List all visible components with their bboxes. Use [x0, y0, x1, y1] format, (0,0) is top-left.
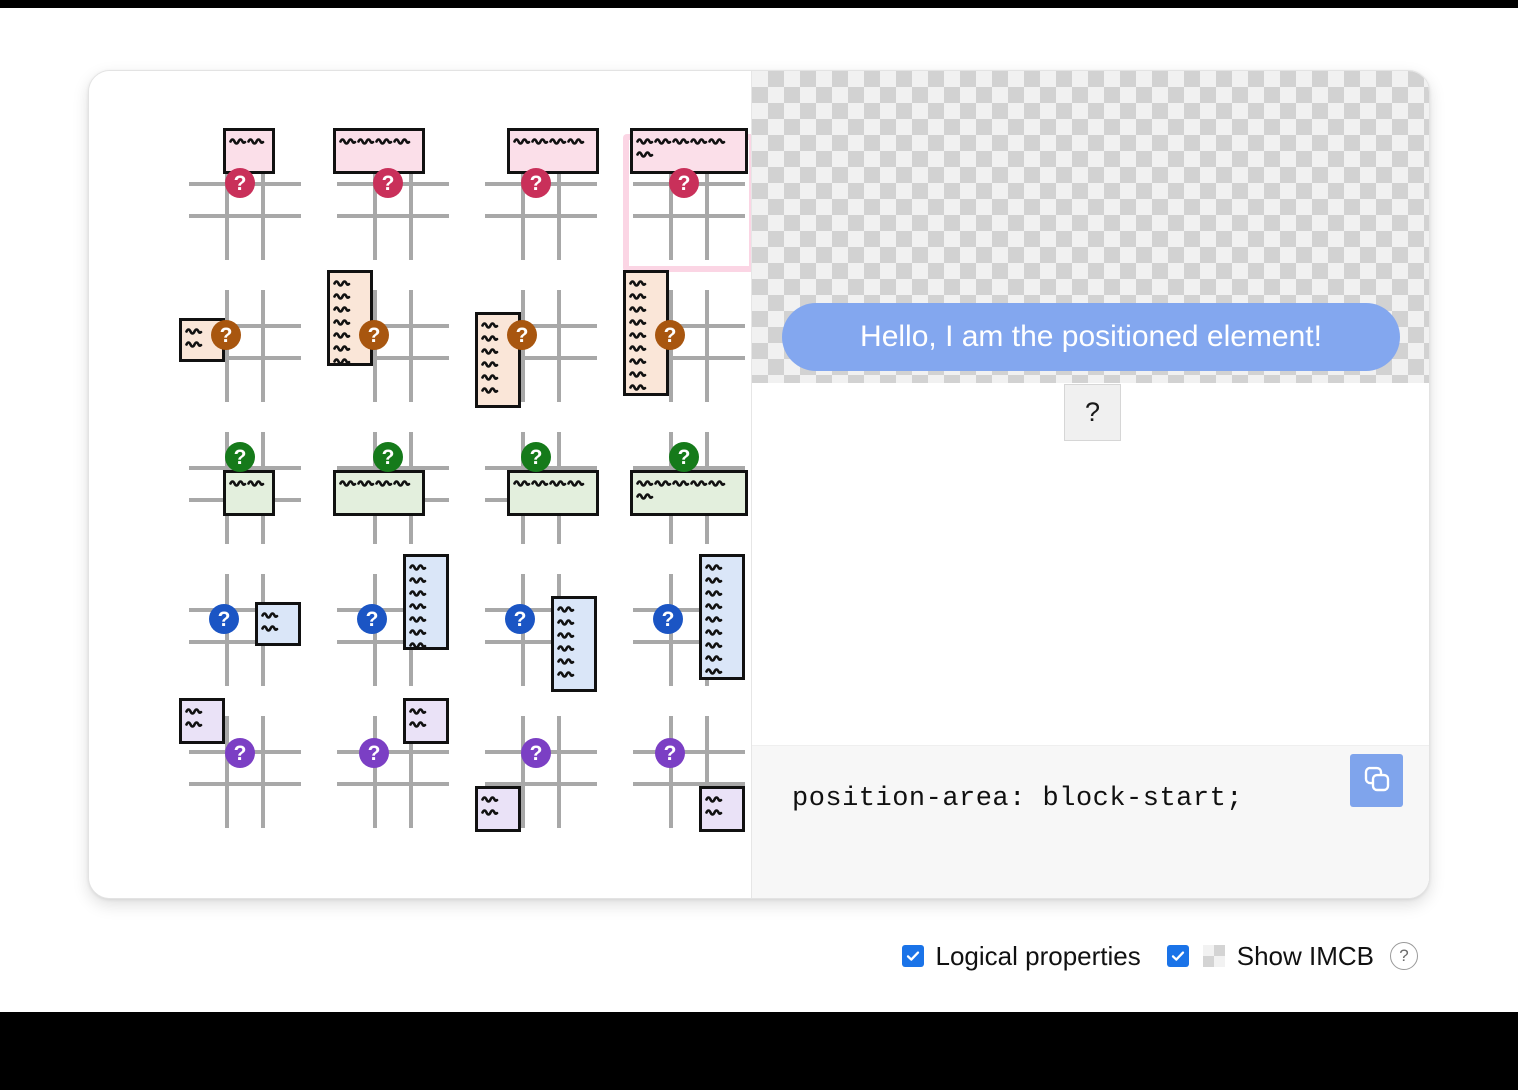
- anchor-badge-icon: ?: [357, 604, 387, 634]
- floating-box: [223, 128, 275, 174]
- option-inner: ?: [185, 708, 305, 834]
- logical-properties-label: Logical properties: [936, 941, 1141, 972]
- option-cell-inline-start-span-block-start[interactable]: ?: [179, 276, 311, 414]
- preview-pane: Hello, I am the positioned element! ? po…: [751, 71, 1429, 898]
- anchor-badge-icon: ?: [359, 738, 389, 768]
- anchor-badge-icon: ?: [373, 442, 403, 472]
- option-cell-block-end-inline-start[interactable]: ?: [475, 702, 607, 840]
- css-declaration: position-area: block-start;: [792, 784, 1243, 814]
- option-inner: ?: [481, 424, 601, 550]
- anchor-badge-icon: ?: [653, 604, 683, 634]
- option-cell-block-start-inline-start[interactable]: ?: [179, 702, 311, 840]
- floating-box: [699, 786, 745, 832]
- copy-button[interactable]: [1350, 754, 1403, 807]
- option-cell-block-start-span-inline-start[interactable]: ?: [179, 134, 311, 272]
- anchor-badge-icon: ?: [373, 168, 403, 198]
- anchor-badge-icon: ?: [505, 604, 535, 634]
- floating-box: [403, 554, 449, 650]
- option-grid[interactable]: ????????????????????: [179, 134, 755, 840]
- anchor-badge-icon: ?: [655, 738, 685, 768]
- floating-box: [630, 128, 748, 174]
- option-inner: ?: [629, 424, 749, 550]
- show-imcb-control[interactable]: Show IMCB: [1167, 941, 1374, 972]
- option-inner: ?: [629, 140, 749, 266]
- checkmark-icon: [1170, 948, 1186, 964]
- option-cell-inline-end-span-block-end[interactable]: ?: [475, 560, 607, 698]
- picker-pane: ????????????????????: [89, 71, 751, 898]
- letterbox-top: [0, 0, 1518, 8]
- anchor-badge-icon: ?: [521, 442, 551, 472]
- floating-box: [255, 602, 301, 646]
- floating-box: [333, 128, 425, 174]
- option-cell-block-end-center[interactable]: ?: [327, 418, 459, 556]
- footer-controls: Logical properties Show IMCB ?: [0, 926, 1518, 986]
- help-circle-icon[interactable]: ?: [1390, 942, 1418, 970]
- option-inner: ?: [185, 566, 305, 692]
- checkmark-icon: [905, 948, 921, 964]
- option-inner: ?: [333, 140, 453, 266]
- floating-box: [475, 786, 521, 832]
- anchor-badge-icon: ?: [225, 442, 255, 472]
- option-cell-block-end-inline-end[interactable]: ?: [623, 702, 755, 840]
- option-inner: ?: [481, 566, 601, 692]
- option-inner: ?: [481, 140, 601, 266]
- anchor-badge-icon: ?: [359, 320, 389, 350]
- app-stage: ???????????????????? Hello, I am the pos…: [0, 8, 1518, 1012]
- option-cell-inline-start-span-block-end[interactable]: ?: [475, 276, 607, 414]
- anchor-badge-icon: ?: [225, 738, 255, 768]
- option-inner: ?: [333, 424, 453, 550]
- option-inner: ?: [185, 424, 305, 550]
- anchor-badge-icon: ?: [507, 320, 537, 350]
- floating-box: [551, 596, 597, 692]
- positioned-element: Hello, I am the positioned element!: [782, 303, 1400, 371]
- anchor-badge-icon: ?: [669, 168, 699, 198]
- floating-box: [403, 698, 449, 744]
- letterbox-bottom: [0, 1012, 1518, 1090]
- floating-box: [630, 470, 748, 516]
- option-inner: ?: [629, 282, 749, 408]
- option-cell-block-start-center[interactable]: ?: [327, 134, 459, 272]
- show-imcb-checkbox[interactable]: [1167, 945, 1189, 967]
- logical-properties-checkbox[interactable]: [902, 945, 924, 967]
- option-inner: ?: [481, 282, 601, 408]
- option-inner: ?: [629, 566, 749, 692]
- option-cell-block-start[interactable]: ?: [623, 134, 755, 272]
- anchor-badge-icon: ?: [225, 168, 255, 198]
- anchor-badge-icon: ?: [655, 320, 685, 350]
- option-cell-block-start-inline-end[interactable]: ?: [327, 702, 459, 840]
- floating-box: [327, 270, 373, 366]
- option-cell-inline-end-span-block-start[interactable]: ?: [179, 560, 311, 698]
- option-inner: ?: [185, 140, 305, 266]
- option-cell-inline-start[interactable]: ?: [623, 276, 755, 414]
- floating-box: [179, 698, 225, 744]
- logical-properties-control[interactable]: Logical properties: [902, 941, 1141, 972]
- option-inner: ?: [333, 708, 453, 834]
- anchor-badge-icon: ?: [209, 604, 239, 634]
- anchor-element: ?: [1064, 384, 1121, 441]
- option-cell-inline-end-center[interactable]: ?: [327, 560, 459, 698]
- code-panel: position-area: block-start;: [752, 745, 1429, 898]
- floating-box: [507, 470, 599, 516]
- floating-box: [333, 470, 425, 516]
- anchor-badge-icon: ?: [521, 168, 551, 198]
- copy-icon: [1362, 764, 1392, 797]
- option-inner: ?: [333, 282, 453, 408]
- anchor-badge-icon: ?: [521, 738, 551, 768]
- floating-box: [223, 470, 275, 516]
- floating-box: [699, 554, 745, 680]
- anchor-badge-icon: ?: [669, 442, 699, 472]
- checkerboard-swatch: [1203, 945, 1225, 967]
- position-area-card: ???????????????????? Hello, I am the pos…: [88, 70, 1430, 899]
- option-inner: ?: [185, 282, 305, 408]
- option-inner: ?: [629, 708, 749, 834]
- show-imcb-label: Show IMCB: [1237, 941, 1374, 972]
- option-cell-inline-start-center[interactable]: ?: [327, 276, 459, 414]
- option-cell-block-start-span-inline-end[interactable]: ?: [475, 134, 607, 272]
- option-inner: ?: [481, 708, 601, 834]
- option-inner: ?: [333, 566, 453, 692]
- option-cell-block-end-span-inline-start[interactable]: ?: [179, 418, 311, 556]
- floating-box: [507, 128, 599, 174]
- option-cell-block-end[interactable]: ?: [623, 418, 755, 556]
- option-cell-inline-end[interactable]: ?: [623, 560, 755, 698]
- anchor-badge-icon: ?: [211, 320, 241, 350]
- option-cell-block-end-span-inline-end[interactable]: ?: [475, 418, 607, 556]
